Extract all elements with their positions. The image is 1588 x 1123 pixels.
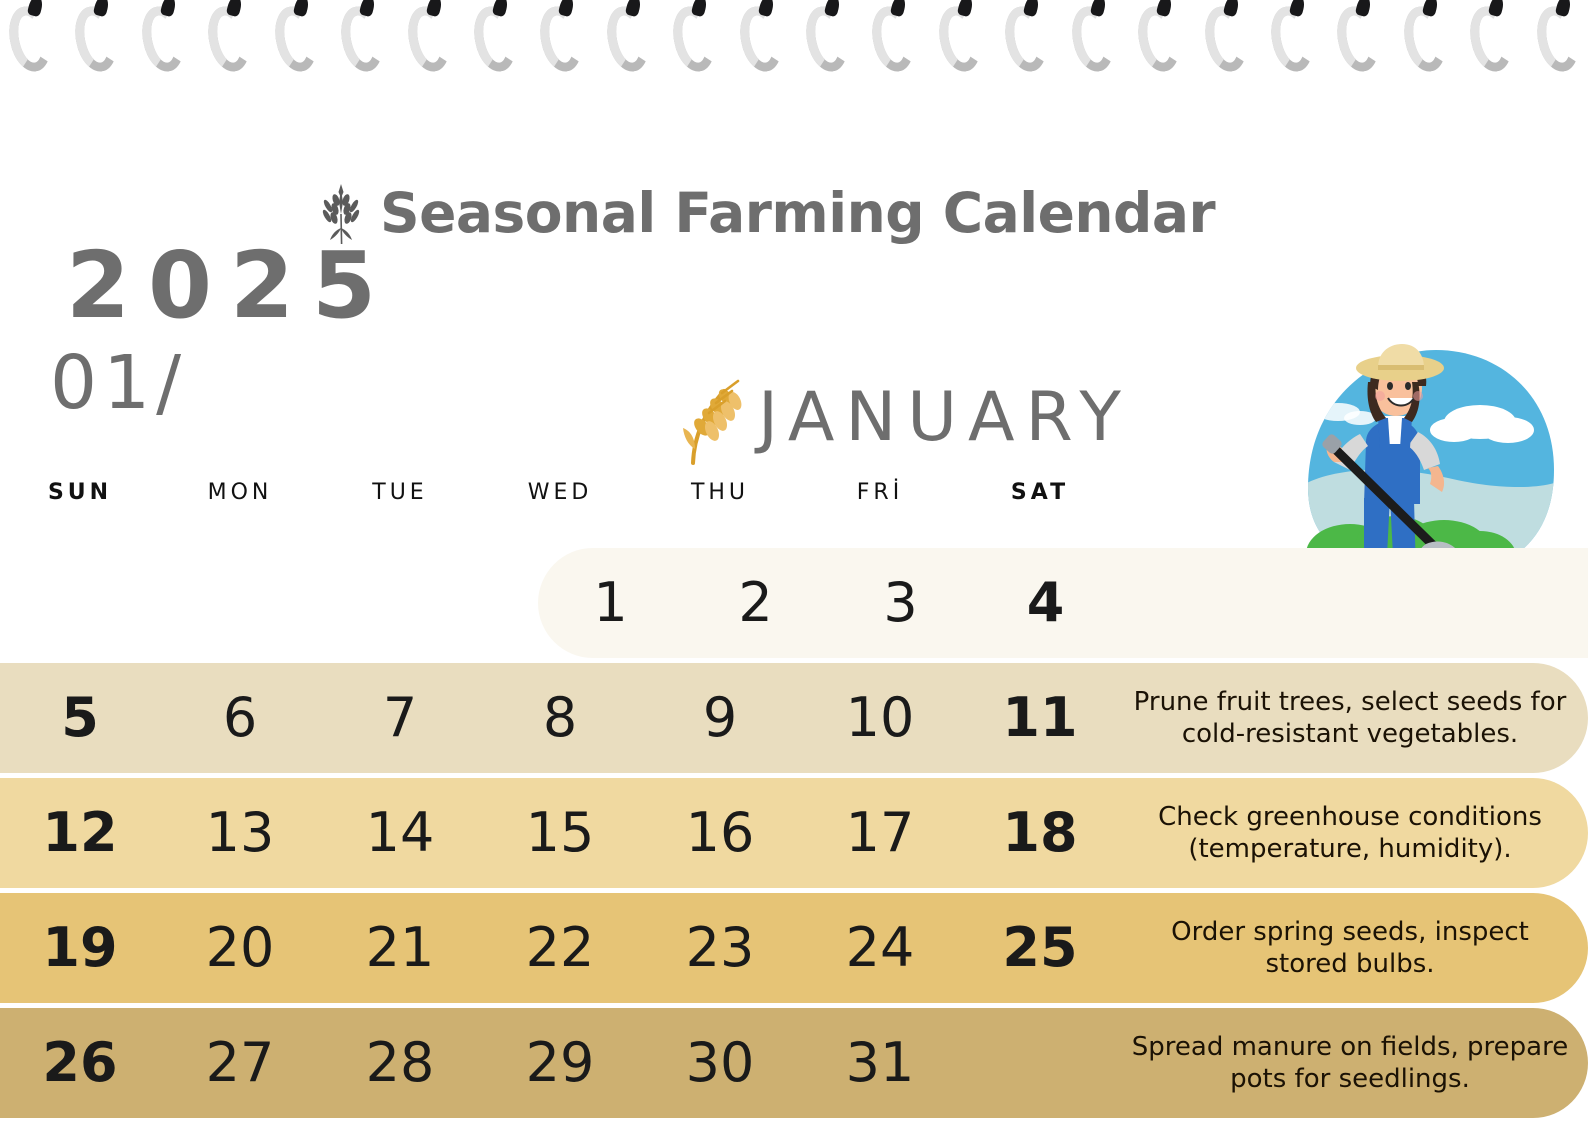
spiral-ring-icon — [934, 0, 986, 88]
spiral-ring-icon — [668, 0, 720, 88]
weekday-label-mon: MON — [160, 480, 320, 522]
week-days: 262728293031 — [0, 1008, 1120, 1118]
day-cell[interactable]: 25 — [960, 893, 1120, 1003]
week-days: 567891011 — [0, 663, 1120, 773]
page-title: Seasonal Farming Calendar — [380, 181, 1215, 245]
week-days: 19202122232425 — [0, 893, 1120, 1003]
month-row: JANUARY — [678, 365, 1132, 469]
day-cell[interactable]: 27 — [160, 1008, 320, 1118]
weekday-label-sun: SUN — [0, 480, 160, 522]
week-days: 1234 — [538, 548, 1120, 658]
day-cell[interactable]: 24 — [800, 893, 960, 1003]
spiral-ring-icon — [535, 0, 587, 88]
day-cell[interactable]: 12 — [0, 778, 160, 888]
spiral-ring-icon — [1399, 0, 1451, 88]
day-cell[interactable]: 3 — [828, 548, 973, 658]
day-cell[interactable]: 7 — [320, 663, 480, 773]
day-cell[interactable]: 28 — [320, 1008, 480, 1118]
weekday-label-fri̇: FRİ — [800, 480, 960, 522]
day-cell[interactable]: 16 — [640, 778, 800, 888]
spiral-ring-icon — [403, 0, 455, 88]
weekday-label-sat: SAT — [960, 480, 1120, 522]
title-row: Seasonal Farming Calendar — [318, 180, 1215, 246]
wheat-stalk-icon — [678, 365, 744, 469]
spiral-ring-icon — [1332, 0, 1384, 88]
day-cell[interactable]: 11 — [960, 663, 1120, 773]
week-row: 262728293031Spread manure on fields, pre… — [0, 1008, 1588, 1118]
weekday-label-tue: TUE — [320, 480, 480, 522]
spiral-ring-icon — [469, 0, 521, 88]
day-cell[interactable]: 4 — [973, 548, 1118, 658]
day-cell[interactable]: 31 — [800, 1008, 960, 1118]
day-cell[interactable]: 20 — [160, 893, 320, 1003]
week-note: Order spring seeds, inspect stored bulbs… — [1120, 916, 1588, 981]
week-row: 1234 — [538, 548, 1588, 658]
weekday-label-thu: THU — [640, 480, 800, 522]
day-cell[interactable]: 30 — [640, 1008, 800, 1118]
day-cell[interactable]: 1 — [538, 548, 683, 658]
spiral-ring-icon — [137, 0, 189, 88]
week-note: Prune fruit trees, select seeds for cold… — [1120, 686, 1588, 751]
year-label: 2025 — [66, 240, 394, 332]
week-note: Spread manure on fields, prepare pots fo… — [1120, 1031, 1588, 1096]
day-cell[interactable]: 8 — [480, 663, 640, 773]
day-cell[interactable]: 26 — [0, 1008, 160, 1118]
spiral-ring-icon — [4, 0, 56, 88]
day-cell[interactable]: 14 — [320, 778, 480, 888]
weekday-header-row: SUNMONTUEWEDTHUFRİSAT — [0, 480, 1120, 522]
spiral-ring-icon — [1465, 0, 1517, 88]
day-cell[interactable]: 29 — [480, 1008, 640, 1118]
calendar-weeks: 1234567891011Prune fruit trees, select s… — [0, 548, 1588, 1123]
spiral-ring-icon — [336, 0, 388, 88]
spiral-ring-icon — [735, 0, 787, 88]
weekday-label-wed: WED — [480, 480, 640, 522]
day-cell[interactable]: 6 — [160, 663, 320, 773]
day-cell[interactable]: 17 — [800, 778, 960, 888]
month-number-label: 01/ — [50, 346, 187, 420]
spiral-ring-icon — [1532, 0, 1584, 88]
calendar-header: Seasonal Farming Calendar 2025 01/ — [0, 150, 1588, 530]
day-cell[interactable]: 22 — [480, 893, 640, 1003]
day-cell[interactable]: 18 — [960, 778, 1120, 888]
day-cell[interactable]: 21 — [320, 893, 480, 1003]
day-cell[interactable]: 23 — [640, 893, 800, 1003]
spiral-ring-icon — [270, 0, 322, 88]
spiral-ring-icon — [1266, 0, 1318, 88]
day-cell[interactable]: 15 — [480, 778, 640, 888]
spiral-ring-icon — [602, 0, 654, 88]
spiral-ring-icon — [1000, 0, 1052, 88]
day-cell[interactable]: 13 — [160, 778, 320, 888]
spiral-ring-icon — [1133, 0, 1185, 88]
day-cell[interactable]: 9 — [640, 663, 800, 773]
spiral-ring-icon — [70, 0, 122, 88]
week-row: 567891011Prune fruit trees, select seeds… — [0, 663, 1588, 773]
month-name-label: JANUARY — [758, 378, 1132, 457]
spiral-ring-icon — [1200, 0, 1252, 88]
day-cell[interactable]: 10 — [800, 663, 960, 773]
spiral-binding — [0, 0, 1588, 95]
day-cell[interactable]: 2 — [683, 548, 828, 658]
spiral-ring-icon — [801, 0, 853, 88]
week-note: Check greenhouse conditions (temperature… — [1120, 801, 1588, 866]
spiral-ring-icon — [1067, 0, 1119, 88]
day-cell[interactable]: 5 — [0, 663, 160, 773]
week-days: 12131415161718 — [0, 778, 1120, 888]
week-row: 12131415161718Check greenhouse condition… — [0, 778, 1588, 888]
spiral-ring-icon — [203, 0, 255, 88]
spiral-ring-icon — [867, 0, 919, 88]
day-cell[interactable]: 19 — [0, 893, 160, 1003]
week-row: 19202122232425Order spring seeds, inspec… — [0, 893, 1588, 1003]
